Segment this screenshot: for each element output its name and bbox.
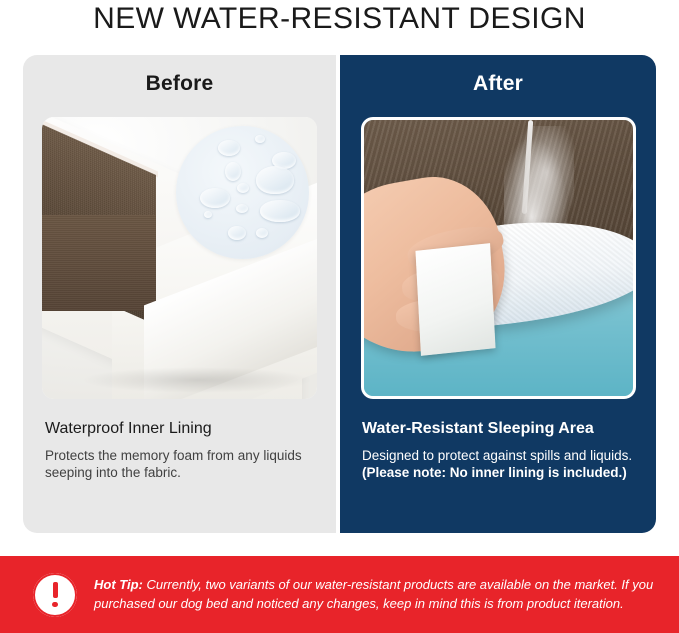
after-photo	[361, 117, 636, 399]
after-caption-body: Designed to protect against spills and l…	[362, 447, 638, 481]
panel-before-heading: Before	[23, 55, 336, 96]
water-droplet-icon	[256, 166, 294, 194]
mattress-shadow	[82, 367, 312, 393]
water-droplet-icon	[225, 162, 241, 181]
mattress-illustration	[42, 117, 317, 399]
water-droplet-icon	[260, 200, 300, 222]
after-caption: Water-Resistant Sleeping Area Designed t…	[362, 419, 638, 481]
hot-tip-banner: Hot Tip: Currently, two variants of our …	[0, 556, 679, 633]
hot-tip-text: Hot Tip: Currently, two variants of our …	[94, 576, 657, 613]
water-droplet-icon	[228, 226, 246, 240]
exclamation-circle-icon	[33, 573, 77, 617]
before-caption: Waterproof Inner Lining Protects the mem…	[45, 419, 318, 481]
water-droplet-icon	[256, 228, 268, 238]
water-droplet-icon	[236, 204, 248, 213]
hot-tip-body: Currently, two variants of our water-res…	[94, 577, 653, 611]
hot-tip-label: Hot Tip:	[94, 577, 143, 592]
water-droplet-icon	[255, 135, 265, 143]
panel-after: After Water-Resistant Sleeping Area Desi…	[340, 55, 656, 533]
panel-after-heading: After	[340, 55, 656, 96]
water-droplet-icon	[204, 211, 212, 218]
water-droplet-icon	[200, 188, 230, 208]
mattress-brown-fabric-side-lower	[42, 215, 156, 311]
sponge	[415, 243, 495, 356]
after-caption-body-normal: Designed to protect against spills and l…	[362, 448, 632, 463]
water-droplets-inset-circle	[176, 126, 309, 259]
after-caption-body-bold: (Please note: No inner lining is include…	[362, 465, 627, 480]
before-caption-title: Waterproof Inner Lining	[45, 419, 318, 439]
water-droplet-icon	[237, 183, 249, 193]
before-caption-body: Protects the memory foam from any liquid…	[45, 447, 318, 481]
wiping-fabric-illustration	[364, 120, 633, 396]
after-caption-title: Water-Resistant Sleeping Area	[362, 419, 638, 439]
panel-before: Before	[23, 55, 336, 533]
before-after-comparison: Before	[23, 55, 656, 533]
page-title: NEW WATER-RESISTANT DESIGN	[0, 0, 679, 36]
water-droplet-icon	[218, 140, 240, 156]
before-photo	[42, 117, 317, 399]
